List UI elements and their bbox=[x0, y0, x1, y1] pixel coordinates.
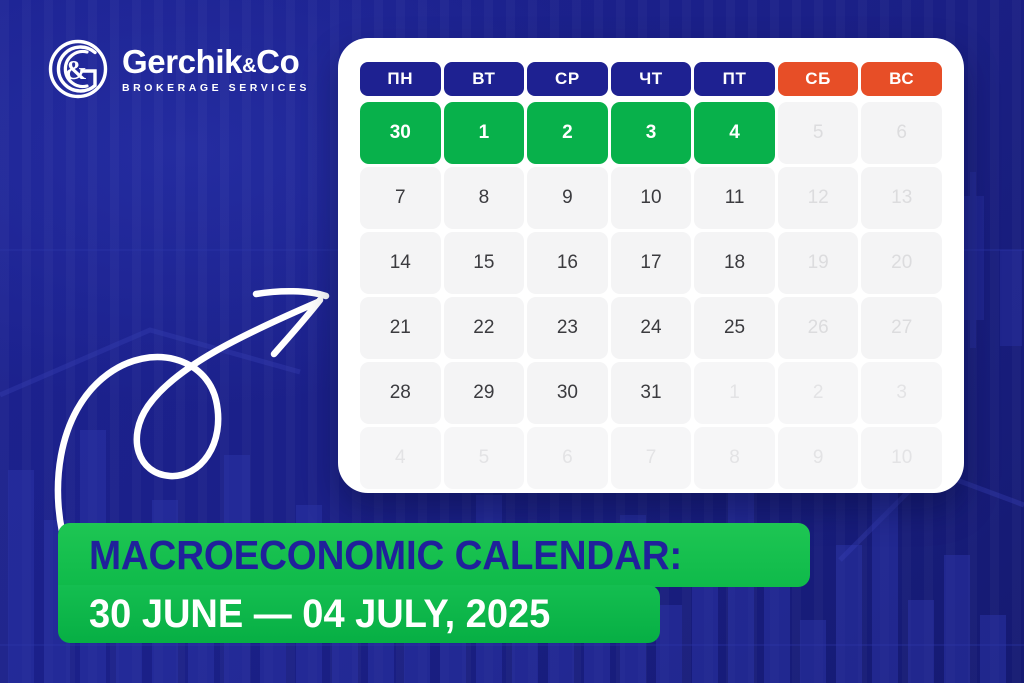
hand-drawn-looping-arrow-icon bbox=[30, 262, 370, 562]
calendar-day-cell[interactable]: 5 bbox=[778, 102, 859, 164]
calendar-day-cell[interactable]: 26 bbox=[778, 297, 859, 359]
calendar-weekday-header: ПТ bbox=[694, 62, 775, 96]
brand-name: Gerchik&Co bbox=[122, 45, 310, 78]
calendar-weeks: 3012345678910111213141516171819202122232… bbox=[360, 102, 942, 489]
calendar-day-cell[interactable]: 11 bbox=[694, 167, 775, 229]
title-banner-secondary: 30 JUNE — 04 JULY, 2025 bbox=[58, 585, 660, 643]
calendar-day-cell[interactable]: 8 bbox=[444, 167, 525, 229]
calendar-card: ПНВТСРЧТПТСБВС 3012345678910111213141516… bbox=[338, 38, 964, 493]
calendar-day-cell[interactable]: 25 bbox=[694, 297, 775, 359]
calendar-day-cell[interactable]: 6 bbox=[861, 102, 942, 164]
calendar-day-cell[interactable]: 28 bbox=[360, 362, 441, 424]
calendar-day-cell[interactable]: 1 bbox=[694, 362, 775, 424]
calendar-day-cell[interactable]: 20 bbox=[861, 232, 942, 294]
calendar-day-cell[interactable]: 10 bbox=[611, 167, 692, 229]
calendar-day-cell[interactable]: 30 bbox=[527, 362, 608, 424]
calendar-day-cell[interactable]: 7 bbox=[360, 167, 441, 229]
calendar-week-row: 28293031123 bbox=[360, 362, 942, 424]
calendar-day-cell[interactable]: 3 bbox=[611, 102, 692, 164]
calendar-day-cell[interactable]: 13 bbox=[861, 167, 942, 229]
calendar-day-cell[interactable]: 9 bbox=[527, 167, 608, 229]
calendar-day-cell[interactable]: 31 bbox=[611, 362, 692, 424]
calendar-weekday-header-row: ПНВТСРЧТПТСБВС bbox=[360, 62, 942, 96]
calendar-day-cell[interactable]: 6 bbox=[527, 427, 608, 489]
svg-text:&: & bbox=[65, 55, 88, 85]
calendar-day-cell[interactable]: 16 bbox=[527, 232, 608, 294]
brand-tagline: BROKERAGE SERVICES bbox=[122, 82, 310, 94]
calendar-week-row: 78910111213 bbox=[360, 167, 942, 229]
calendar-day-cell[interactable]: 5 bbox=[444, 427, 525, 489]
calendar-week-row: 21222324252627 bbox=[360, 297, 942, 359]
calendar-day-cell[interactable]: 22 bbox=[444, 297, 525, 359]
calendar-day-cell[interactable]: 19 bbox=[778, 232, 859, 294]
calendar-week-row: 45678910 bbox=[360, 427, 942, 489]
calendar-weekday-header: ПН bbox=[360, 62, 441, 96]
calendar-day-cell[interactable]: 23 bbox=[527, 297, 608, 359]
calendar-day-cell[interactable]: 10 bbox=[861, 427, 942, 489]
title-banner-primary: MACROECONOMIC CALENDAR: bbox=[58, 523, 810, 587]
brand-logo: & Gerchik&Co BROKERAGE SERVICES bbox=[47, 38, 310, 100]
gerchik-monogram-icon: & bbox=[47, 38, 109, 100]
calendar-day-cell[interactable]: 2 bbox=[778, 362, 859, 424]
calendar-day-cell[interactable]: 15 bbox=[444, 232, 525, 294]
calendar-day-cell[interactable]: 8 bbox=[694, 427, 775, 489]
calendar-day-cell[interactable]: 9 bbox=[778, 427, 859, 489]
calendar-day-cell[interactable]: 2 bbox=[527, 102, 608, 164]
calendar-day-cell[interactable]: 18 bbox=[694, 232, 775, 294]
calendar-weekday-header: СБ bbox=[778, 62, 859, 96]
calendar-day-cell[interactable]: 24 bbox=[611, 297, 692, 359]
calendar-weekday-header: ВС bbox=[861, 62, 942, 96]
calendar-day-cell[interactable]: 17 bbox=[611, 232, 692, 294]
title-line-2: 30 JUNE — 04 JULY, 2025 bbox=[89, 592, 550, 637]
calendar-day-cell[interactable]: 12 bbox=[778, 167, 859, 229]
calendar-weekday-header: ЧТ bbox=[611, 62, 692, 96]
calendar-week-row: 30123456 bbox=[360, 102, 942, 164]
calendar-day-cell[interactable]: 4 bbox=[694, 102, 775, 164]
calendar-day-cell[interactable]: 21 bbox=[360, 297, 441, 359]
calendar-day-cell[interactable]: 30 bbox=[360, 102, 441, 164]
calendar-day-cell[interactable]: 3 bbox=[861, 362, 942, 424]
calendar-day-cell[interactable]: 7 bbox=[611, 427, 692, 489]
title-line-1: MACROECONOMIC CALENDAR: bbox=[89, 532, 682, 579]
calendar-weekday-header: СР bbox=[527, 62, 608, 96]
calendar-weekday-header: ВТ bbox=[444, 62, 525, 96]
calendar-day-cell[interactable]: 4 bbox=[360, 427, 441, 489]
calendar-day-cell[interactable]: 1 bbox=[444, 102, 525, 164]
calendar-week-row: 14151617181920 bbox=[360, 232, 942, 294]
calendar-day-cell[interactable]: 14 bbox=[360, 232, 441, 294]
calendar-day-cell[interactable]: 27 bbox=[861, 297, 942, 359]
calendar-day-cell[interactable]: 29 bbox=[444, 362, 525, 424]
